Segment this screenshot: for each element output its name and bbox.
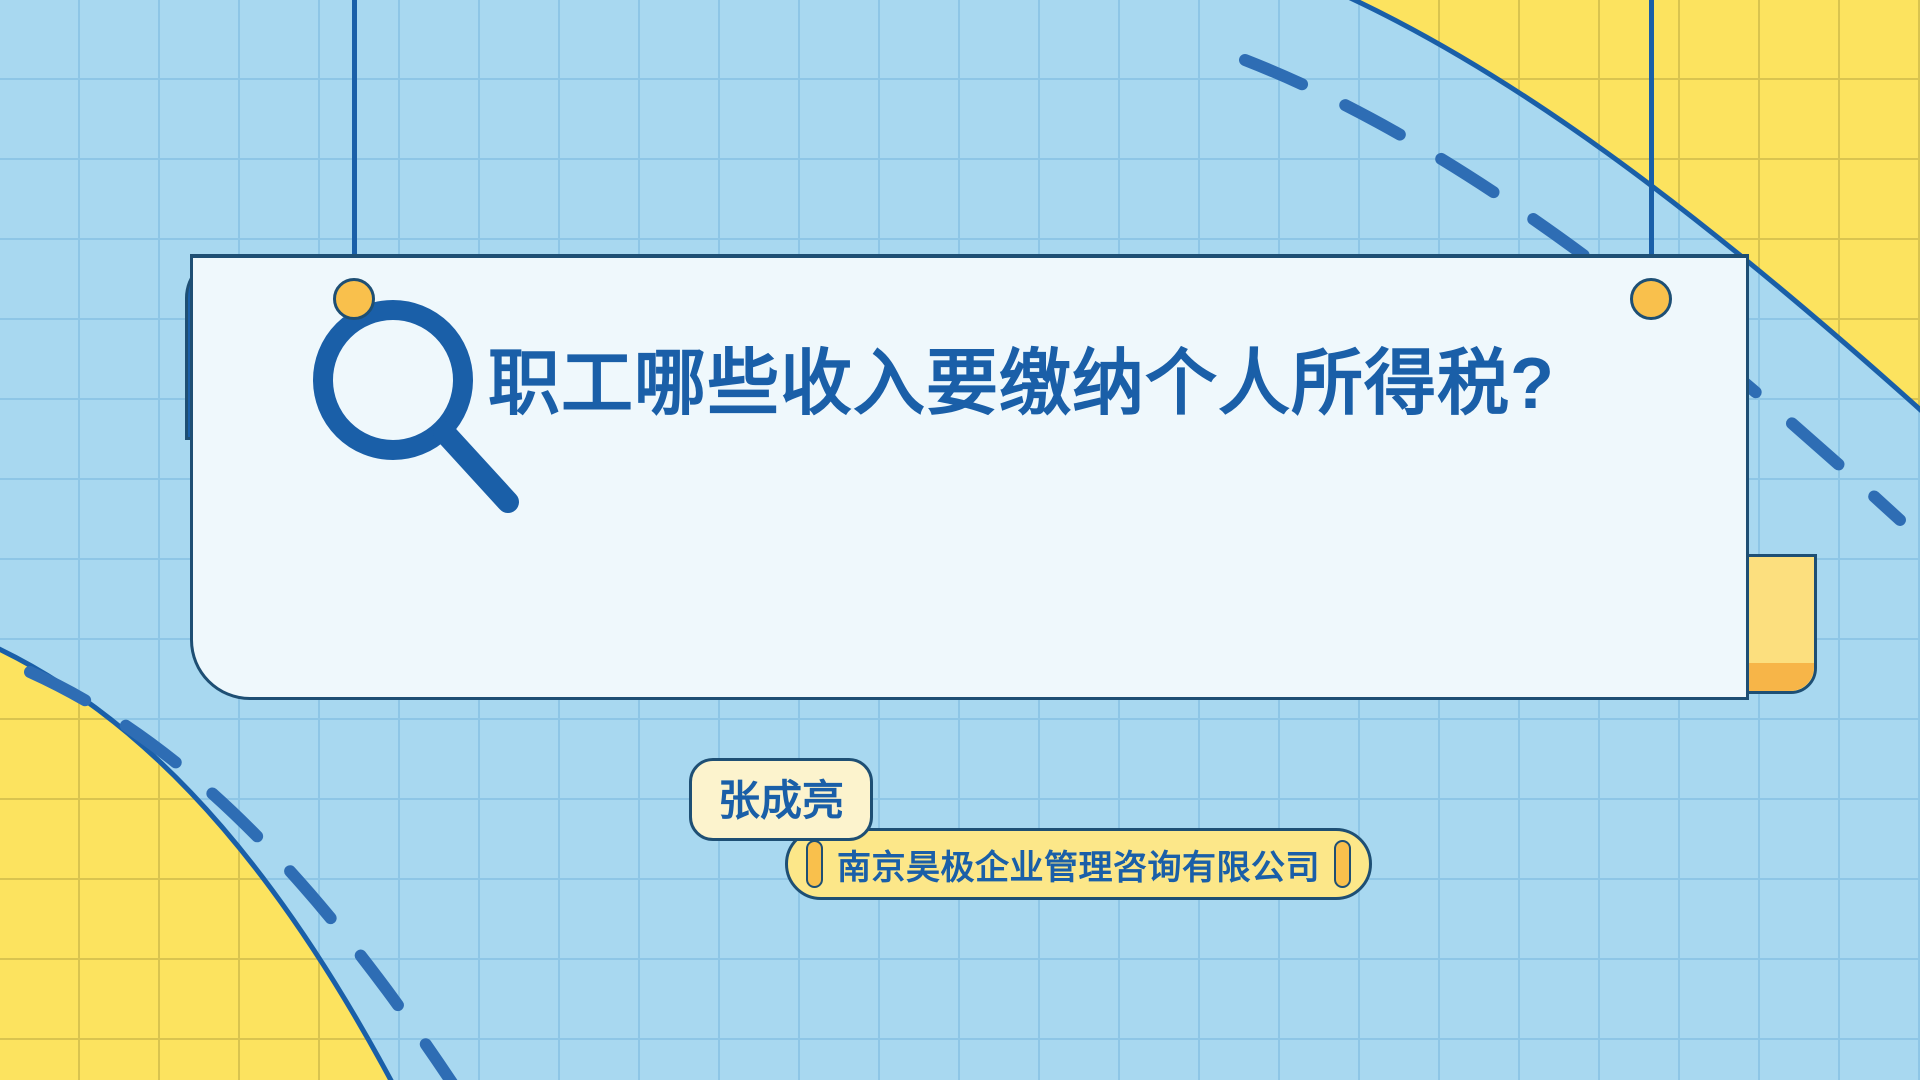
- presenter-name-badge: 张成亮: [689, 758, 873, 841]
- pill-decoration-left: [806, 840, 823, 888]
- pin-dot-icon-right: [1630, 278, 1672, 320]
- pill-decoration-right: [1334, 840, 1351, 888]
- slide-canvas: 职工哪些收入要缴纳个人所得税? 张成亮 南京昊极企业管理咨询有限公司: [0, 0, 1920, 1080]
- page-title: 职工哪些收入要缴纳个人所得税?: [488, 345, 1555, 424]
- pin-dot-icon-left: [333, 278, 375, 320]
- company-name-badge: 南京昊极企业管理咨询有限公司: [785, 828, 1372, 900]
- company-name-label: 南京昊极企业管理咨询有限公司: [837, 840, 1320, 889]
